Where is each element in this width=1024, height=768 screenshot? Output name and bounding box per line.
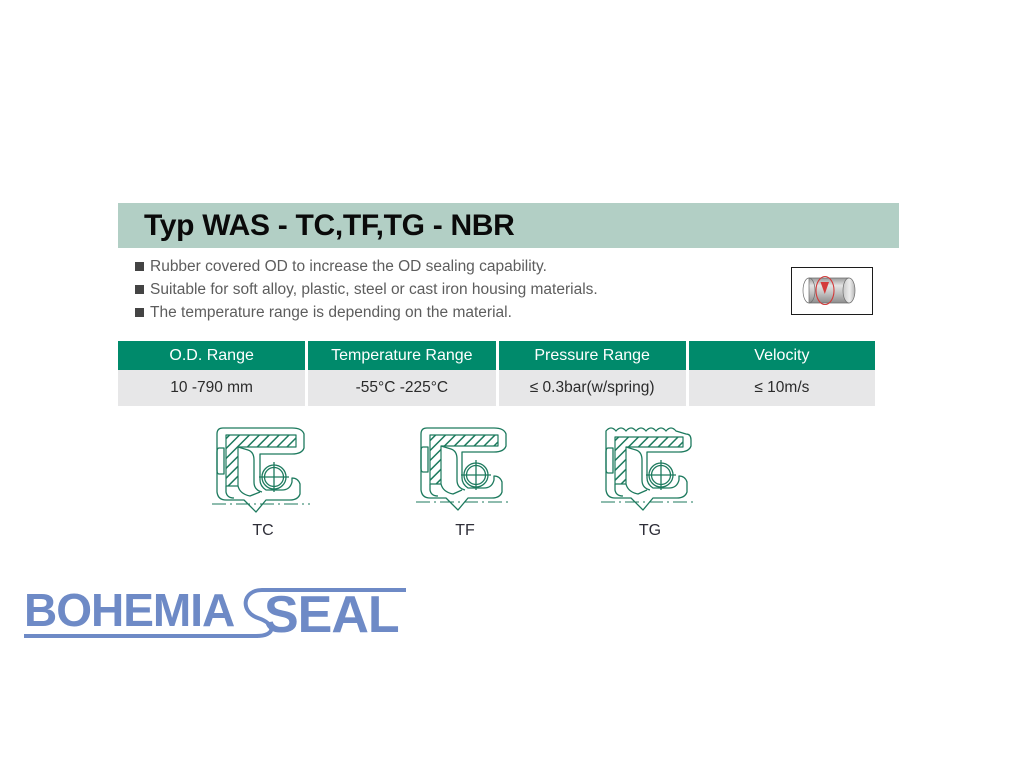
logo-word-bohemia: BOHEMIA	[24, 584, 234, 636]
company-logo: BOHEMIA SEAL	[14, 578, 414, 646]
list-item-label: Rubber covered OD to increase the OD sea…	[150, 256, 547, 277]
seal-cross-section-drawing	[595, 420, 705, 520]
seal-diagram-tg: TG	[591, 420, 721, 540]
table-cell: -55°C -225°C	[308, 370, 495, 406]
seal-label: TG	[591, 522, 709, 540]
column-header: Temperature Range	[308, 341, 495, 370]
table-cell: ≤ 10m/s	[689, 370, 875, 406]
column-header: Pressure Range	[499, 341, 686, 370]
spec-column-pressure-range: Pressure Range ≤ 0.3bar(w/spring)	[499, 341, 686, 406]
list-item-label: The temperature range is depending on th…	[150, 302, 512, 323]
seal-label: TC	[204, 522, 322, 540]
column-header: Velocity	[689, 341, 875, 370]
seal-diagram-tc: TC	[204, 420, 334, 540]
spec-table: O.D. Range 10 -790 mm Temperature Range …	[118, 341, 875, 406]
title-banner: Typ WAS - TC,TF,TG - NBR	[118, 203, 899, 248]
column-header: O.D. Range	[118, 341, 305, 370]
seal-diagram-tf: TF	[406, 420, 536, 540]
list-item-label: Suitable for soft alloy, plastic, steel …	[150, 279, 598, 300]
logo-word-seal: SEAL	[264, 586, 399, 644]
list-item: Suitable for soft alloy, plastic, steel …	[135, 279, 755, 302]
square-bullet-icon	[135, 308, 144, 317]
spec-column-od-range: O.D. Range 10 -790 mm	[118, 341, 305, 406]
seal-cross-section-drawing	[204, 420, 322, 520]
table-cell: ≤ 0.3bar(w/spring)	[499, 370, 686, 406]
seal-cross-section-drawing	[410, 420, 520, 520]
feature-list: Rubber covered OD to increase the OD sea…	[135, 256, 755, 325]
spec-column-velocity: Velocity ≤ 10m/s	[689, 341, 875, 406]
square-bullet-icon	[135, 262, 144, 271]
rotating-shaft-icon	[791, 267, 873, 315]
page-title: Typ WAS - TC,TF,TG - NBR	[144, 209, 515, 243]
seal-label: TF	[406, 522, 524, 540]
list-item: The temperature range is depending on th…	[135, 302, 755, 325]
square-bullet-icon	[135, 285, 144, 294]
spec-column-temperature-range: Temperature Range -55°C -225°C	[308, 341, 495, 406]
table-cell: 10 -790 mm	[118, 370, 305, 406]
list-item: Rubber covered OD to increase the OD sea…	[135, 256, 755, 279]
